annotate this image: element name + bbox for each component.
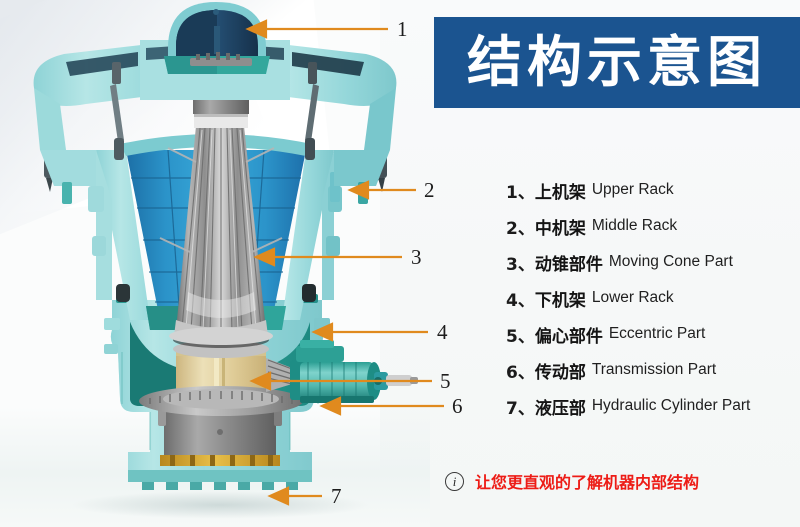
legend-number: 6、 <box>506 358 535 383</box>
legend-number: 3、 <box>506 250 535 275</box>
callout-number-2: 2 <box>424 180 435 201</box>
legend-label-en: Upper Rack <box>592 181 674 199</box>
legend-label-en: Middle Rack <box>592 217 677 235</box>
legend-item-upper-rack: 1、 上机架 Upper Rack <box>506 172 798 208</box>
footer-note: i 让您更直观的了解机器内部结构 <box>445 469 699 493</box>
legend-label-cn: 下机架 <box>535 286 586 311</box>
legend-label-en: Moving Cone Part <box>609 253 733 271</box>
callout-number-4: 4 <box>437 322 448 343</box>
legend-label-cn: 中机架 <box>535 214 586 239</box>
callout-number-5: 5 <box>440 371 451 392</box>
legend-number: 4、 <box>506 286 535 311</box>
callout-number-7: 7 <box>331 486 342 507</box>
legend-number: 1、 <box>506 178 535 203</box>
parts-legend-list: 1、 上机架 Upper Rack 2、 中机架 Middle Rack 3、 … <box>506 172 798 424</box>
legend-item-eccentric-part: 5、 偏心部件 Eccentric Part <box>506 316 798 352</box>
legend-label-en: Hydraulic Cylinder Part <box>592 397 751 415</box>
callout-number-3: 3 <box>411 247 422 268</box>
page-title: 结构示意图 <box>467 35 767 90</box>
callout-number-1: 1 <box>397 19 408 40</box>
legend-item-middle-rack: 2、 中机架 Middle Rack <box>506 208 798 244</box>
transmission-part <box>290 340 418 403</box>
legend-item-hydraulic-cylinder-part: 7、 液压部 Hydraulic Cylinder Part <box>506 388 798 424</box>
legend-label-en: Transmission Part <box>592 361 716 379</box>
cone-crusher-illustration <box>0 0 430 527</box>
callout-number-6: 6 <box>452 396 463 417</box>
legend-label-en: Lower Rack <box>592 289 674 307</box>
legend-label-cn: 偏心部件 <box>535 322 603 347</box>
legend-item-moving-cone-part: 3、 动锥部件 Moving Cone Part <box>506 244 798 280</box>
legend-label-en: Eccentric Part <box>609 325 705 343</box>
title-banner: 结构示意图 <box>434 17 800 108</box>
legend-number: 7、 <box>506 394 535 419</box>
info-circle-icon: i <box>445 472 464 491</box>
footer-note-text: 让您更直观的了解机器内部结构 <box>475 469 699 493</box>
legend-label-cn: 液压部 <box>535 394 586 419</box>
legend-number: 5、 <box>506 322 535 347</box>
legend-label-cn: 上机架 <box>535 178 586 203</box>
legend-item-lower-rack: 4、 下机架 Lower Rack <box>506 280 798 316</box>
legend-number: 2、 <box>506 214 535 239</box>
legend-label-cn: 动锥部件 <box>535 250 603 275</box>
legend-label-cn: 传动部 <box>535 358 586 383</box>
legend-item-transmission-part: 6、 传动部 Transmission Part <box>506 352 798 388</box>
structure-diagram-page: 1 2 3 4 5 6 7 结构示意图 1、 上机架 Upper Rack 2、… <box>0 0 800 527</box>
